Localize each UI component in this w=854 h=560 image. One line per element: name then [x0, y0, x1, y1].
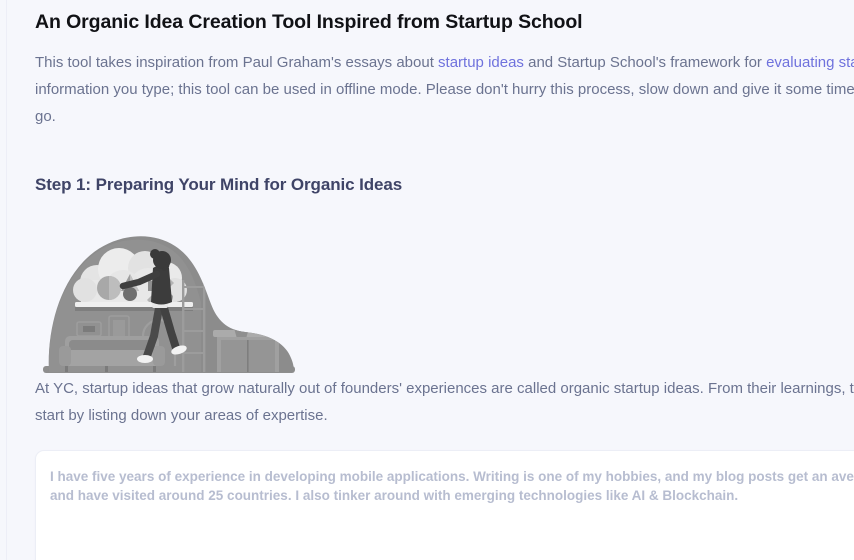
startup-ideas-link[interactable]: startup ideas [438, 54, 524, 71]
illustration-container [35, 197, 335, 353]
intro-text-segment-2: and Startup School's framework for [524, 54, 766, 71]
intro-paragraph: This tool takes inspiration from Paul Gr… [35, 35, 854, 130]
step-one-heading: Step 1: Preparing Your Mind for Organic … [35, 130, 854, 197]
evaluating-startup-ideas-link[interactable]: evaluating startup ideas [766, 54, 854, 71]
intro-text-segment-1: This tool takes inspiration from Paul Gr… [35, 54, 438, 71]
woman-reaching-shelf-of-ideas-illustration [35, 224, 300, 376]
page-root: An Organic Idea Creation Tool Inspired f… [0, 0, 854, 560]
page-title: An Organic Idea Creation Tool Inspired f… [35, 0, 854, 35]
content-column: An Organic Idea Creation Tool Inspired f… [0, 0, 854, 560]
areas-of-expertise-input[interactable] [35, 450, 854, 560]
